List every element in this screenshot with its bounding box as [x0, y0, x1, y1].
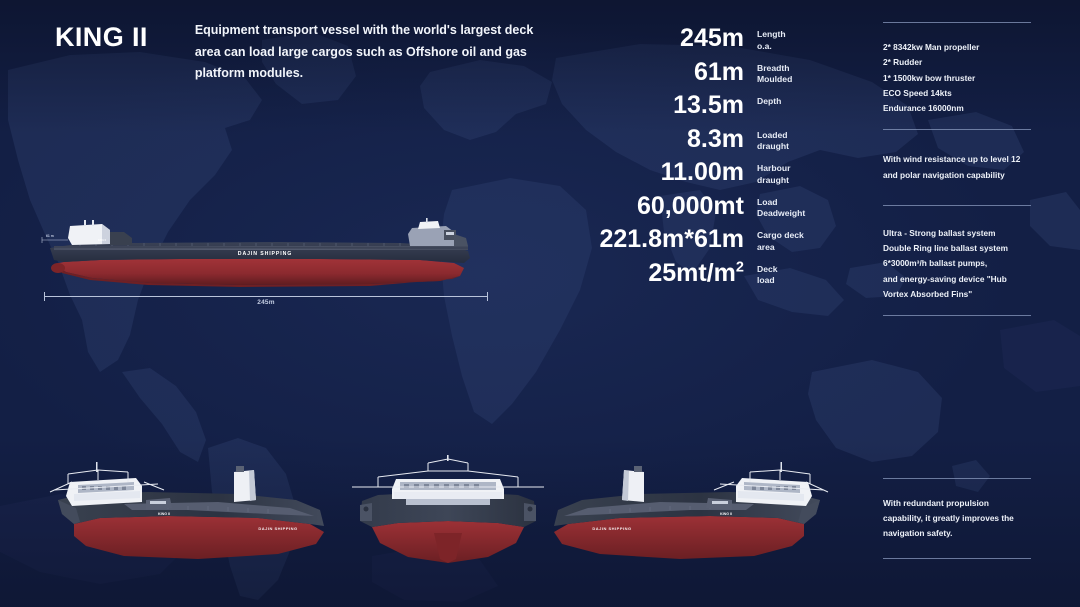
- divider: [883, 205, 1031, 206]
- page-subtitle: Equipment transport vessel with the worl…: [195, 20, 550, 85]
- spec-label: Load Deadweight: [757, 190, 805, 221]
- page-title: KING II: [55, 20, 148, 51]
- spec-value: 61m: [568, 56, 744, 89]
- note-redundant-propulsion: With redundant propulsion capability, it…: [883, 496, 1031, 541]
- ship-three-quarter-view-left: KING II DAJIN SHIPPING: [28, 452, 338, 572]
- spec-row: 221.8m*61mCargo deck area: [568, 223, 818, 256]
- spec-row: 13.5mDepth: [568, 89, 818, 122]
- note-line: 1* 1500kw bow thruster: [883, 71, 1031, 86]
- note-line: and polar navigation capability: [883, 168, 1031, 183]
- hull-brand-text: DAJIN SHIPPING: [592, 526, 631, 531]
- specification-list: 245mLength o.a.61mBreadth Moulded13.5mDe…: [568, 22, 818, 290]
- spec-row: 245mLength o.a.: [568, 22, 818, 55]
- ship-head-on-view: [338, 455, 558, 570]
- note-line: With wind resistance up to level 12: [883, 152, 1031, 167]
- divider: [883, 129, 1031, 130]
- ship-three-quarter-view-right: KING II DAJIN SHIPPING: [530, 450, 850, 572]
- technical-notes-bottom: With redundant propulsion capability, it…: [883, 478, 1031, 559]
- infographic-canvas: KING II Equipment transport vessel with …: [0, 0, 1080, 607]
- note-propulsion: 2* 8342kw Man propeller2* Rudder1* 1500k…: [883, 40, 1031, 116]
- spec-value: 8.3m: [568, 123, 744, 156]
- note-line: and energy-saving device "Hub: [883, 272, 1031, 287]
- divider: [883, 558, 1031, 559]
- spec-row: 25mt/m2Deck load: [568, 257, 818, 290]
- length-dimension-label: 245m: [44, 299, 488, 306]
- note-line: Vortex Absorbed Fins": [883, 287, 1031, 302]
- note-ballast-system: Ultra - Strong ballast systemDouble Ring…: [883, 226, 1031, 302]
- hull-brand-text: DAJIN SHIPPING: [238, 251, 292, 257]
- divider: [883, 22, 1031, 23]
- note-line: Endurance 16000nm: [883, 101, 1031, 116]
- spec-label: Depth: [757, 89, 781, 108]
- hull-brand-text: DAJIN SHIPPING: [258, 526, 297, 531]
- breadth-callout-label: 61 m: [46, 234, 54, 238]
- note-line: 2* 8342kw Man propeller: [883, 40, 1031, 55]
- vessel-name-text: KING II: [158, 512, 170, 516]
- spec-value-superscript: 2: [736, 259, 744, 275]
- spec-value: 60,000mt: [568, 190, 744, 223]
- note-line: ECO Speed 14kts: [883, 86, 1031, 101]
- note-line: Double Ring line ballast system: [883, 241, 1031, 256]
- note-line: 2* Rudder: [883, 55, 1031, 70]
- spec-value: 11.00m: [568, 156, 744, 189]
- divider: [883, 478, 1031, 479]
- ship-profile-view: KING II DAJIN SHIPPING 61 m: [40, 218, 490, 293]
- note-line: With redundant propulsion capability, it…: [883, 496, 1031, 541]
- spec-value: 221.8m*61m: [568, 223, 744, 256]
- spec-value: 25mt/m2: [568, 257, 744, 290]
- spec-row: 11.00mHarbour draught: [568, 156, 818, 189]
- vessel-name-text: KING II: [720, 512, 732, 516]
- note-line: 6*3000m³/h ballast pumps,: [883, 256, 1031, 271]
- spec-row: 8.3mLoaded draught: [568, 123, 818, 156]
- header: KING II Equipment transport vessel with …: [55, 20, 550, 85]
- spec-row: 60,000mtLoad Deadweight: [568, 190, 818, 223]
- divider: [883, 315, 1031, 316]
- spec-label: Loaded draught: [757, 123, 789, 154]
- spec-label: Length o.a.: [757, 22, 786, 53]
- svg-text:KING II: KING II: [98, 239, 106, 242]
- spec-label: Harbour draught: [757, 156, 790, 187]
- spec-label: Deck load: [757, 257, 778, 288]
- note-line: Ultra - Strong ballast system: [883, 226, 1031, 241]
- dimension-bar: [44, 296, 488, 297]
- spec-value: 245m: [568, 22, 744, 55]
- spec-label: Cargo deck area: [757, 223, 804, 254]
- spec-value: 13.5m: [568, 89, 744, 122]
- spec-label: Breadth Moulded: [757, 56, 792, 87]
- note-wind-resistance: With wind resistance up to level 12and p…: [883, 152, 1031, 183]
- spec-row: 61mBreadth Moulded: [568, 56, 818, 89]
- length-dimension-line: 245m: [44, 292, 488, 312]
- technical-notes: 2* 8342kw Man propeller2* Rudder1* 1500k…: [883, 22, 1031, 316]
